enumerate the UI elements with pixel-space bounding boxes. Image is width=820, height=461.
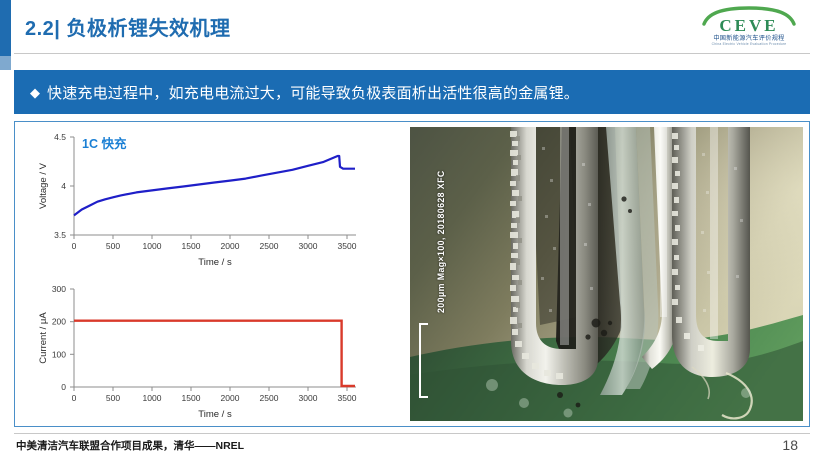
header-divider <box>14 53 810 54</box>
svg-text:3000: 3000 <box>299 393 318 403</box>
page-title: 2.2| 负极析锂失效机理 <box>25 12 230 41</box>
svg-text:500: 500 <box>106 393 120 403</box>
svg-text:3500: 3500 <box>338 393 357 403</box>
chart-annotation-1c-fast-charge: 1C 快充 <box>82 133 126 152</box>
svg-text:2000: 2000 <box>221 241 240 251</box>
svg-text:200: 200 <box>52 317 66 327</box>
micrograph-svg <box>410 127 803 421</box>
micrograph-scale-label: 200μm Mag×100, 20180628 XFC <box>436 127 446 313</box>
svg-text:500: 500 <box>106 241 120 251</box>
svg-text:0: 0 <box>72 393 77 403</box>
svg-text:Voltage / V: Voltage / V <box>38 162 49 209</box>
svg-text:2000: 2000 <box>221 393 240 403</box>
svg-text:1500: 1500 <box>182 393 201 403</box>
svg-text:1000: 1000 <box>143 393 162 403</box>
logo-chinese-name: 中国新能源汽车评价规程 <box>690 33 808 42</box>
svg-text:3.5: 3.5 <box>54 230 66 240</box>
svg-text:300: 300 <box>52 284 66 294</box>
footer-divider <box>14 433 810 434</box>
charts-column: 3.5 4 4.5 0 500 1000 1500 2000 2500 3000… <box>16 123 398 425</box>
svg-text:1000: 1000 <box>143 241 162 251</box>
svg-text:0: 0 <box>61 382 66 392</box>
current-plot-svg: 0 100 200 300 0 500 1000 1500 2000 2500 … <box>16 277 398 423</box>
logo-mark-icon: CEVE <box>690 4 808 36</box>
svg-text:Current / μA: Current / μA <box>38 312 49 364</box>
ceve-logo: CEVE 中国新能源汽车评价规程 China Electric Vehicle … <box>690 4 808 50</box>
svg-text:3500: 3500 <box>338 241 357 251</box>
svg-text:1500: 1500 <box>182 241 201 251</box>
chart-voltage-vs-time: 3.5 4 4.5 0 500 1000 1500 2000 2500 3000… <box>16 125 398 271</box>
key-point-banner: ◆ 快速充电过程中，如充电电流过大，可能导致负极表面析出活性很高的金属锂。 <box>14 70 810 114</box>
svg-text:Time / s: Time / s <box>198 257 232 268</box>
svg-text:0: 0 <box>72 241 77 251</box>
page-number: 18 <box>782 437 798 453</box>
svg-text:2500: 2500 <box>260 241 279 251</box>
svg-text:4.5: 4.5 <box>54 132 66 142</box>
micrograph-image: 200μm Mag×100, 20180628 XFC <box>410 127 803 421</box>
title-accent-bar-lower <box>0 56 11 70</box>
logo-english-name: China Electric Vehicle Evaluation Proced… <box>690 42 808 46</box>
svg-text:Time / s: Time / s <box>198 409 232 420</box>
footer-note: 中美清洁汽车联盟合作项目成果，清华——NREL <box>16 438 244 453</box>
diamond-bullet-icon: ◆ <box>30 86 40 99</box>
chart-current-vs-time: 0 100 200 300 0 500 1000 1500 2000 2500 … <box>16 277 398 423</box>
voltage-plot-svg: 3.5 4 4.5 0 500 1000 1500 2000 2500 3000… <box>16 125 398 271</box>
svg-text:3000: 3000 <box>299 241 318 251</box>
svg-text:4: 4 <box>61 181 66 191</box>
svg-text:100: 100 <box>52 349 66 359</box>
svg-text:2500: 2500 <box>260 393 279 403</box>
micrograph-scale-bar-icon <box>419 323 428 398</box>
banner-text: 快速充电过程中，如充电电流过大，可能导致负极表面析出活性很高的金属锂。 <box>47 82 579 103</box>
